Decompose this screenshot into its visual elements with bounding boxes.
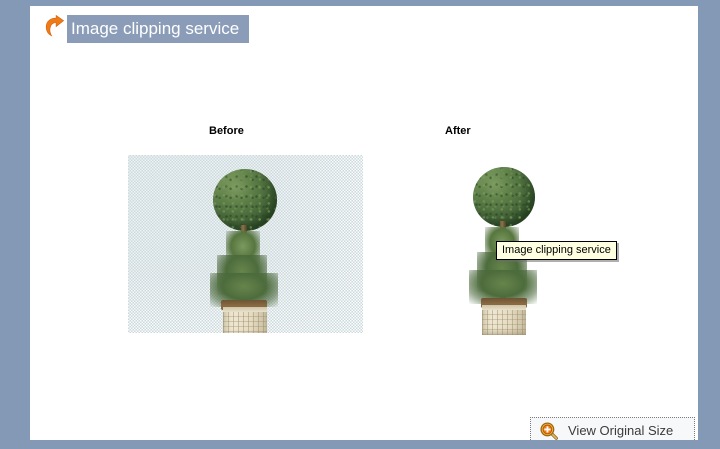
- before-image[interactable]: [128, 155, 363, 333]
- view-original-size-label: View Original Size: [568, 423, 673, 438]
- topiary-ball: [213, 169, 277, 231]
- before-after-comparison: Before After: [30, 6, 698, 406]
- topiary-planter: [223, 307, 267, 333]
- zoom-in-icon: [540, 422, 558, 440]
- topiary-planter: [482, 305, 526, 335]
- application-window: Image clipping service Before After: [0, 0, 720, 449]
- tooltip: Image clipping service: [496, 241, 617, 260]
- content-panel: Image clipping service Before After: [30, 6, 698, 440]
- topiary-ball: [473, 167, 535, 227]
- tooltip-text: Image clipping service: [502, 244, 611, 256]
- before-caption: Before: [209, 125, 244, 137]
- after-caption: After: [445, 125, 471, 137]
- view-original-size-button[interactable]: View Original Size: [530, 417, 695, 440]
